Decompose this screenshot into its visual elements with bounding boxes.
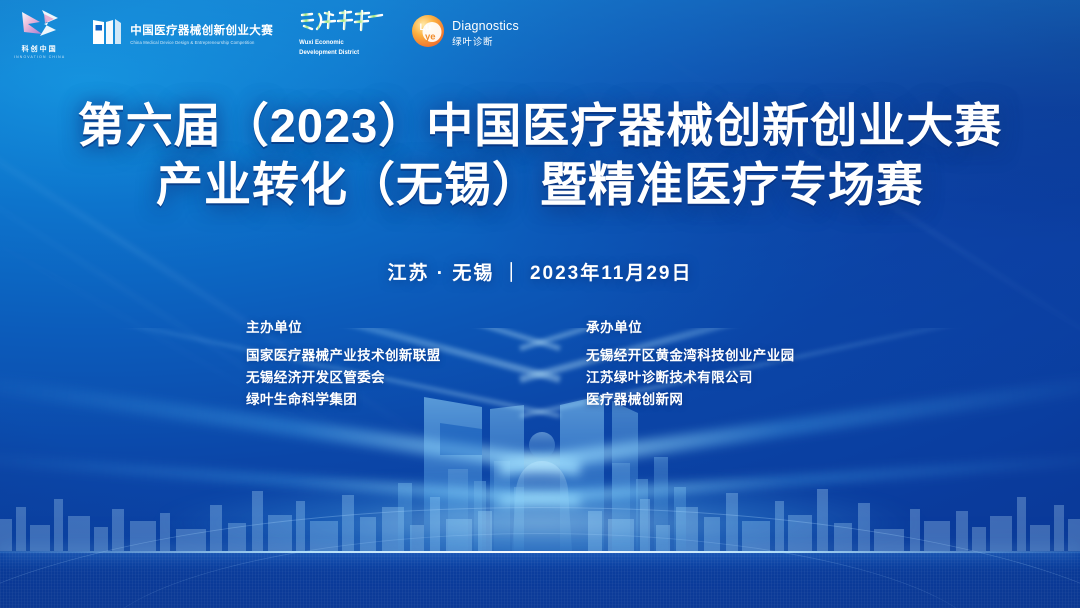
host-item: 国家医疗器械产业技术创新联盟 — [246, 345, 494, 367]
coorganizer-item: 医疗器械创新网 — [586, 389, 834, 411]
coorganizer-item: 江苏绿叶诊断技术有限公司 — [586, 367, 834, 389]
coorganizer-heading: 承办单位 — [586, 316, 834, 336]
host-organizers-column: 主办单位 国家医疗器械产业技术创新联盟 无锡经济开发区管委会 绿叶生命科学集团 — [246, 316, 494, 411]
organizers-section: 主办单位 国家医疗器械产业技术创新联盟 无锡经济开发区管委会 绿叶生命科学集团 … — [0, 316, 1080, 411]
coorganizer-item: 无锡经开区黄金湾科技创业产业园 — [586, 345, 834, 367]
coorganizer-column: 承办单位 无锡经开区黄金湾科技创业产业园 江苏绿叶诊断技术有限公司 医疗器械创新… — [586, 316, 834, 411]
main-title: 第六届（2023）中国医疗器械创新创业大赛 产业转化（无锡）暨精准医疗专场赛 — [0, 96, 1080, 214]
poster-root: 科创中国 INNOVATION CHINA 中国医疗器械创新创业大赛 China… — [0, 0, 1080, 608]
poster-content: 第六届（2023）中国医疗器械创新创业大赛 产业转化（无锡）暨精准医疗专场赛 江… — [0, 0, 1080, 608]
title-line-1: 第六届（2023）中国医疗器械创新创业大赛 — [0, 96, 1080, 155]
event-location-date: 江苏 · 无锡 ｜ 2023年11月29日 — [0, 258, 1080, 285]
host-item: 无锡经济开发区管委会 — [246, 367, 494, 389]
host-item: 绿叶生命科学集团 — [246, 389, 494, 411]
host-heading: 主办单位 — [246, 316, 494, 336]
title-line-2: 产业转化（无锡）暨精准医疗专场赛 — [0, 155, 1080, 214]
